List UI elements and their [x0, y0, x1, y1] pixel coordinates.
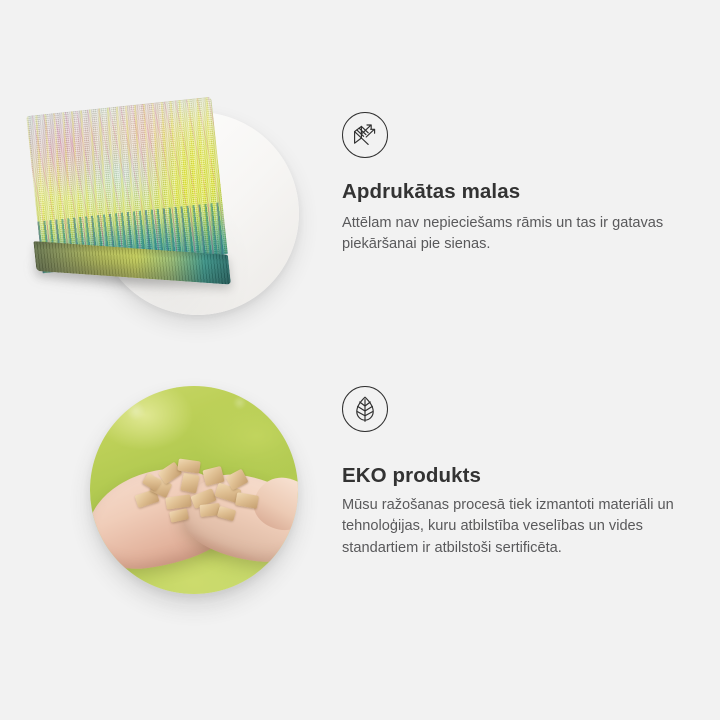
printed-edges-copy: Apdrukātas malas Attēlam nav nepieciešam… — [230, 112, 690, 256]
hands-illustration — [90, 460, 298, 578]
printed-edges-media — [0, 112, 230, 342]
feature-description: Attēlam nav nepieciešams rāmis un tas ir… — [342, 213, 690, 256]
wrapped-canvas-edge-icon — [342, 112, 388, 158]
feature-printed-edges: Apdrukātas malas Attēlam nav nepieciešam… — [0, 112, 690, 342]
feature-description: Mūsu ražošanas procesā tiek izmantoti ma… — [342, 495, 690, 559]
wood-chips-pile — [130, 458, 270, 534]
eko-product-media — [0, 386, 230, 608]
eko-product-copy: EKO produkts Mūsu ražošanas procesā tiek… — [230, 386, 690, 559]
wrapped-canvas-illustration — [20, 96, 235, 311]
leaf-icon — [342, 386, 388, 432]
feature-eko-product: EKO produkts Mūsu ražošanas procesā tiek… — [0, 386, 690, 608]
feature-title: EKO produkts — [342, 464, 690, 488]
feature-title: Apdrukātas malas — [342, 180, 690, 204]
eko-photo-circle — [90, 386, 298, 594]
product-features-panel: Apdrukātas malas Attēlam nav nepieciešam… — [0, 0, 720, 720]
